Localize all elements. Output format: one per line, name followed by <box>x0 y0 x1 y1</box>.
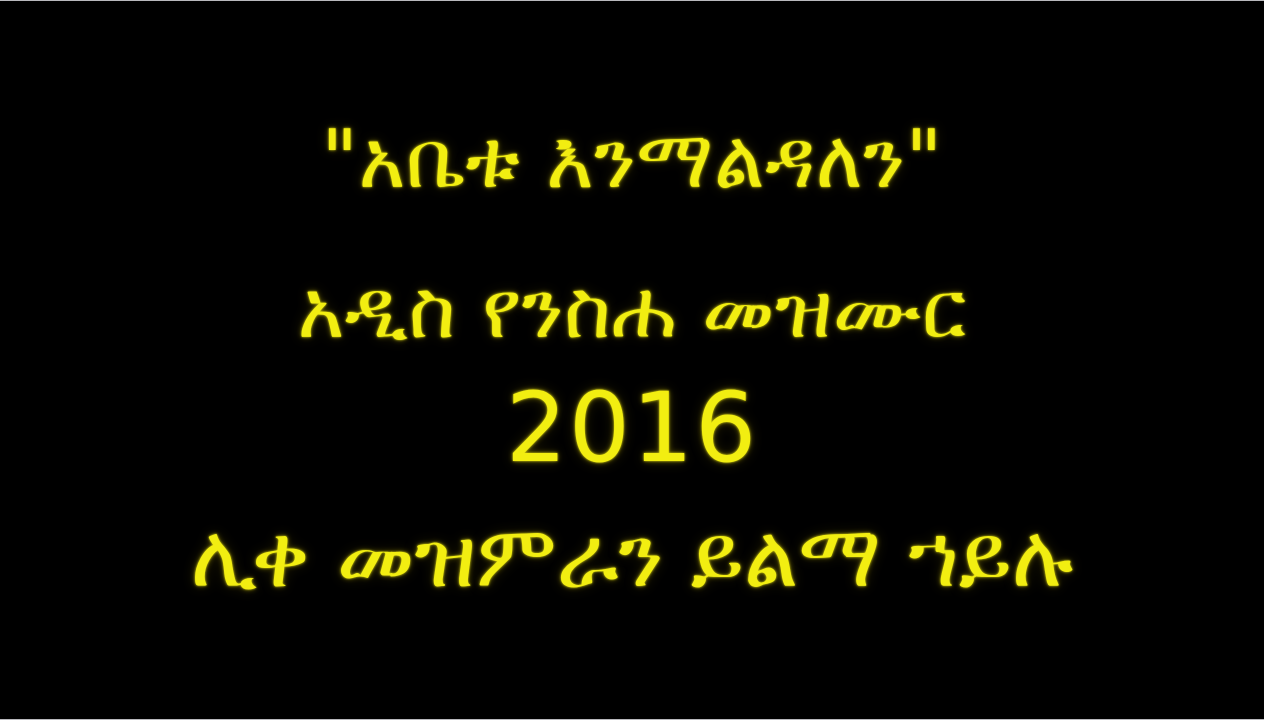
year-line: 2016 <box>0 380 1264 476</box>
title-card-frame: "አቤቱ እንማልዳለን" አዲስ የንስሐ መዝሙር 2016 ሊቀ መዝምራ… <box>0 0 1264 720</box>
performer-credit-line: ሊቀ መዝምራን ይልማ ኀይሉ <box>0 514 1264 600</box>
song-title-line: "አቤቱ እንማልዳለን" <box>0 120 1264 200</box>
title-card-text-block: "አቤቱ እንማልዳለን" አዲስ የንስሐ መዝሙር 2016 ሊቀ መዝምራ… <box>0 1 1264 719</box>
subtitle-line: አዲስ የንስሐ መዝሙር <box>0 270 1264 350</box>
